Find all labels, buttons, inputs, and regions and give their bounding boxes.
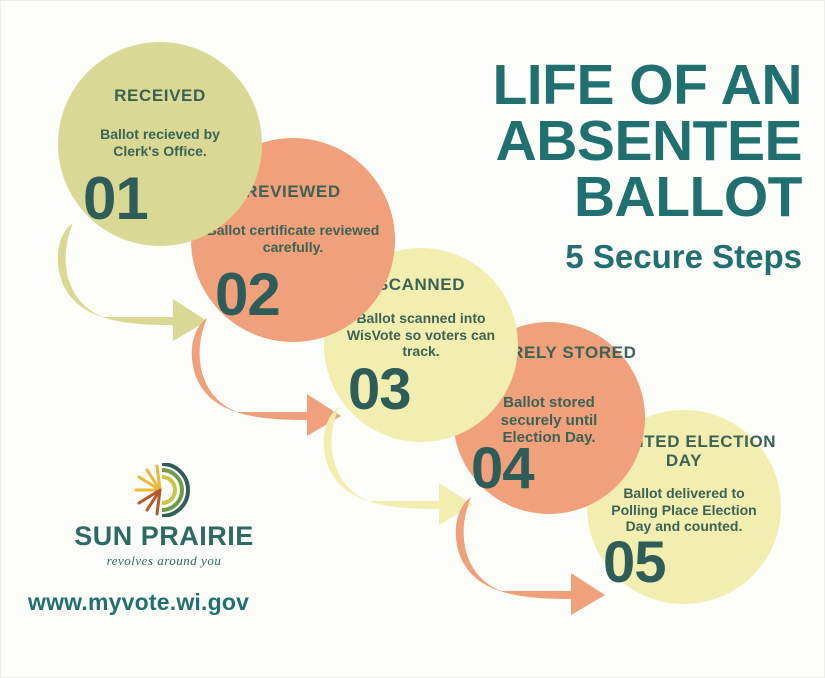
page-title-line-2: ABSENTEE (442, 114, 802, 170)
step-01-number: 01 (83, 169, 148, 229)
step-01-title: RECEIVED (58, 86, 262, 105)
step-circle-01: RECEIVED Ballot recieved by Clerk's Offi… (58, 42, 262, 246)
page-title-line-3: BALLOT (442, 170, 802, 226)
step-03-number: 03 (348, 361, 411, 419)
step-05-description: Ballot delivered to Polling Place Electi… (587, 485, 781, 535)
sun-burst-icon (69, 463, 259, 519)
logo-wordmark: SUN PRAIRIE (69, 521, 259, 552)
step-02-description: Ballot certificate reviewed carefully. (191, 222, 395, 255)
page-subtitle: 5 Secure Steps (442, 240, 802, 273)
step-04-number: 04 (471, 440, 534, 498)
myvote-url-link[interactable]: www.myvote.wi.gov (28, 589, 249, 616)
title-block: LIFE OF AN ABSENTEE BALLOT 5 Secure Step… (442, 58, 802, 273)
step-02-number: 02 (215, 265, 280, 325)
logo-tagline: revolves around you (69, 553, 259, 569)
page-title-line-1: LIFE OF AN (442, 58, 802, 114)
step-01-description: Ballot recieved by Clerk's Office. (58, 126, 262, 159)
step-05-number: 05 (603, 534, 666, 592)
sun-prairie-logo: SUN PRAIRIE revolves around you (69, 463, 259, 569)
infographic-poster: LIFE OF AN ABSENTEE BALLOT 5 Secure Step… (0, 0, 825, 678)
